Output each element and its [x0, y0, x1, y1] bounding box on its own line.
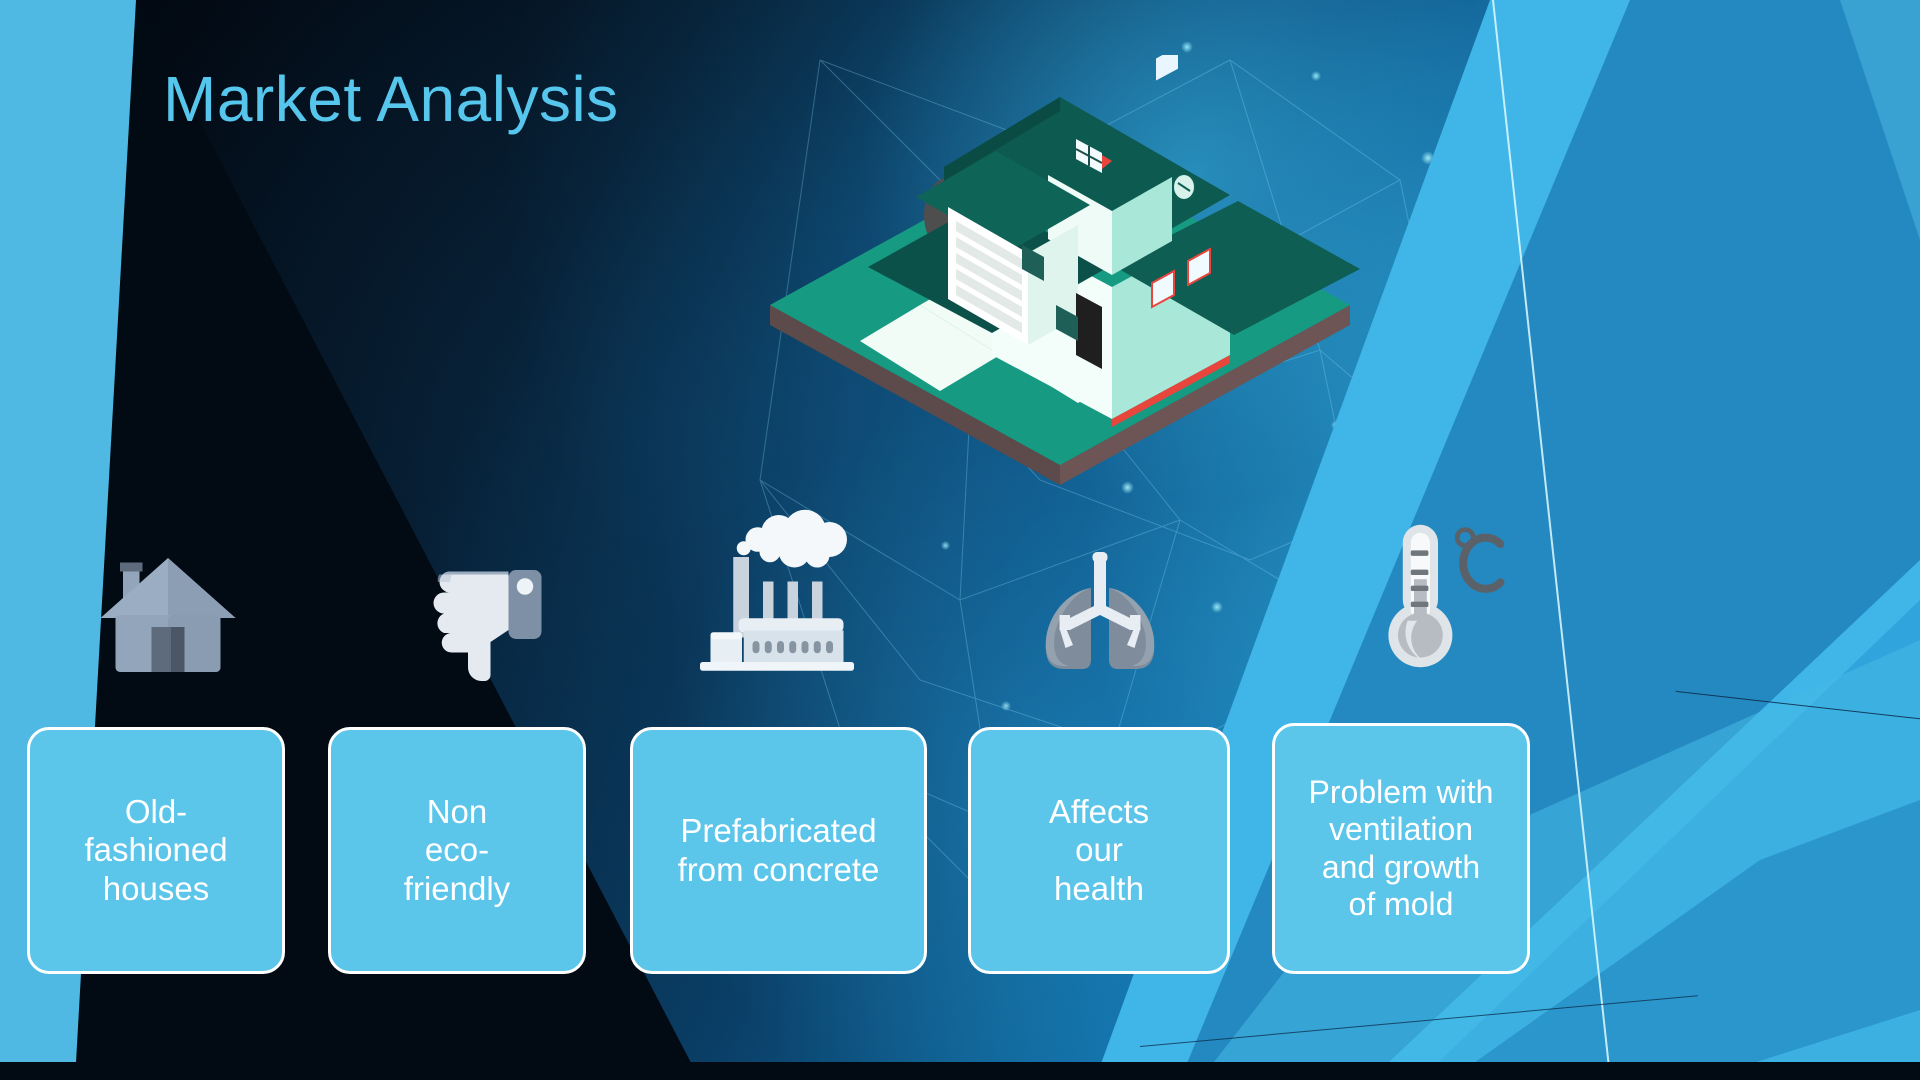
bottom-dark-strip — [0, 1062, 1920, 1080]
card-label: Old- fashioned houses — [76, 793, 235, 909]
thumbs-down-icon — [390, 525, 570, 705]
icon-row — [0, 515, 1540, 695]
card-label: Non eco- friendly — [396, 793, 518, 909]
thermometer-icon — [1340, 510, 1520, 690]
list-item[interactable]: Old- fashioned houses — [27, 727, 285, 974]
presentation-slide: Market Analysis — [0, 0, 1920, 1080]
card-label: Problem with ventilation and growth of m… — [1301, 774, 1502, 924]
card-label: Affects our health — [1041, 793, 1157, 909]
list-item[interactable]: Prefabricated from concrete — [630, 727, 927, 974]
list-item[interactable]: Problem with ventilation and growth of m… — [1272, 723, 1530, 974]
house-icon — [78, 525, 258, 705]
factory-icon — [690, 505, 870, 685]
list-item[interactable]: Affects our health — [968, 727, 1230, 974]
page-title: Market Analysis — [163, 62, 619, 136]
isometric-house-illustration — [760, 55, 1360, 495]
lungs-icon — [1010, 525, 1190, 705]
list-item[interactable]: Non eco- friendly — [328, 727, 586, 974]
card-label: Prefabricated from concrete — [670, 812, 888, 889]
